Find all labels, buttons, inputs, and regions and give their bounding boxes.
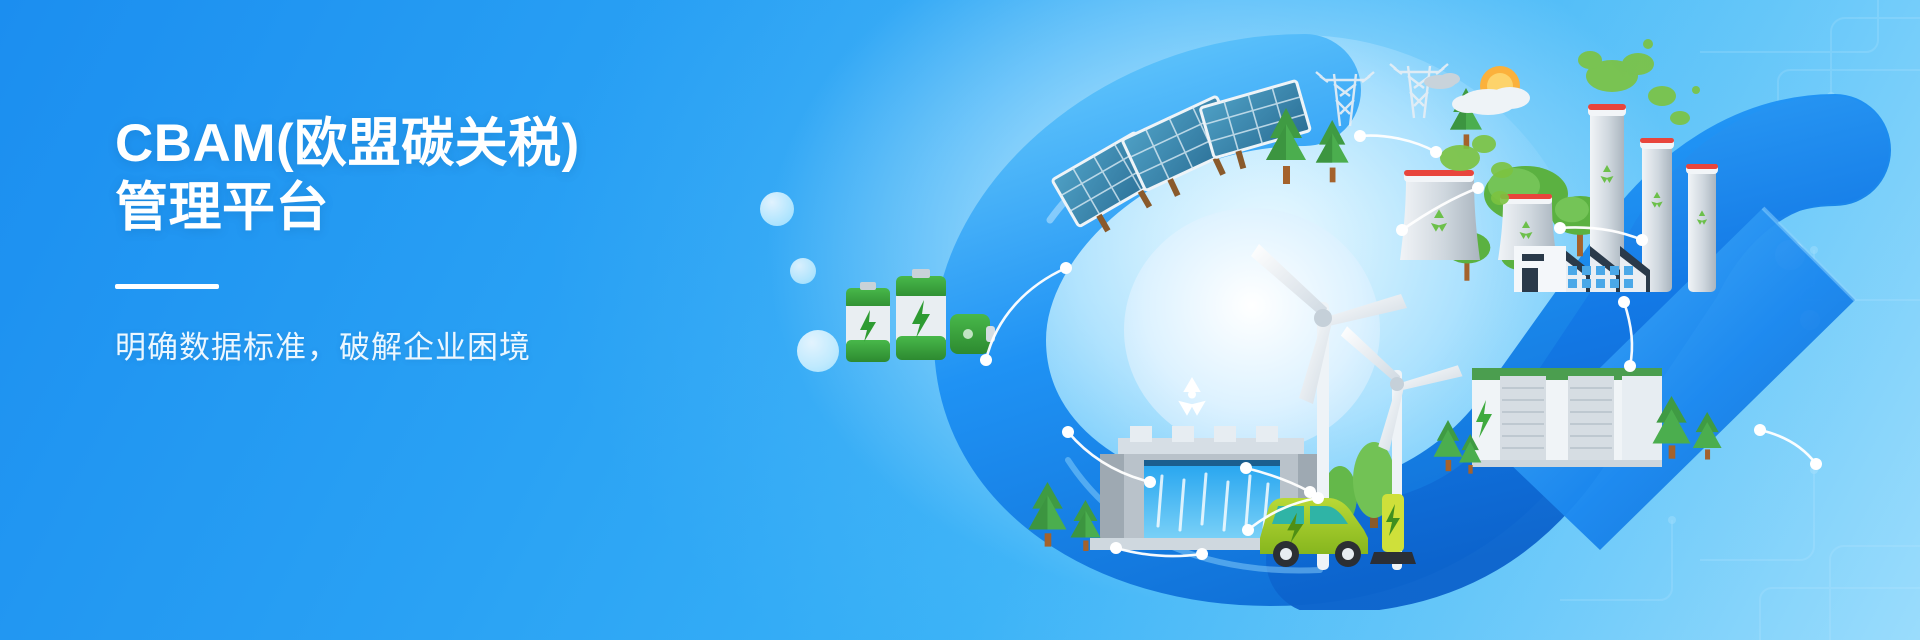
cbam-hero-banner: CBAM(欧盟碳关税) 管理平台 明确数据标准，破解企业困境 (0, 0, 1920, 640)
loop-inner-hole (1124, 208, 1380, 452)
hero-subtitle: 明确数据标准，破解企业困境 (115, 327, 795, 369)
cooling-tower-icon (1400, 170, 1480, 260)
page-title: CBAM(欧盟碳关税) 管理平台 (115, 112, 795, 240)
hero-text-block: CBAM(欧盟碳关税) 管理平台 明确数据标准，破解企业困境 (115, 112, 795, 369)
title-divider (115, 284, 219, 289)
smokestack-icon (1686, 164, 1718, 292)
eco-carbon-cycle-illustration (800, 30, 1910, 610)
battery-storage-icon (1472, 368, 1662, 467)
